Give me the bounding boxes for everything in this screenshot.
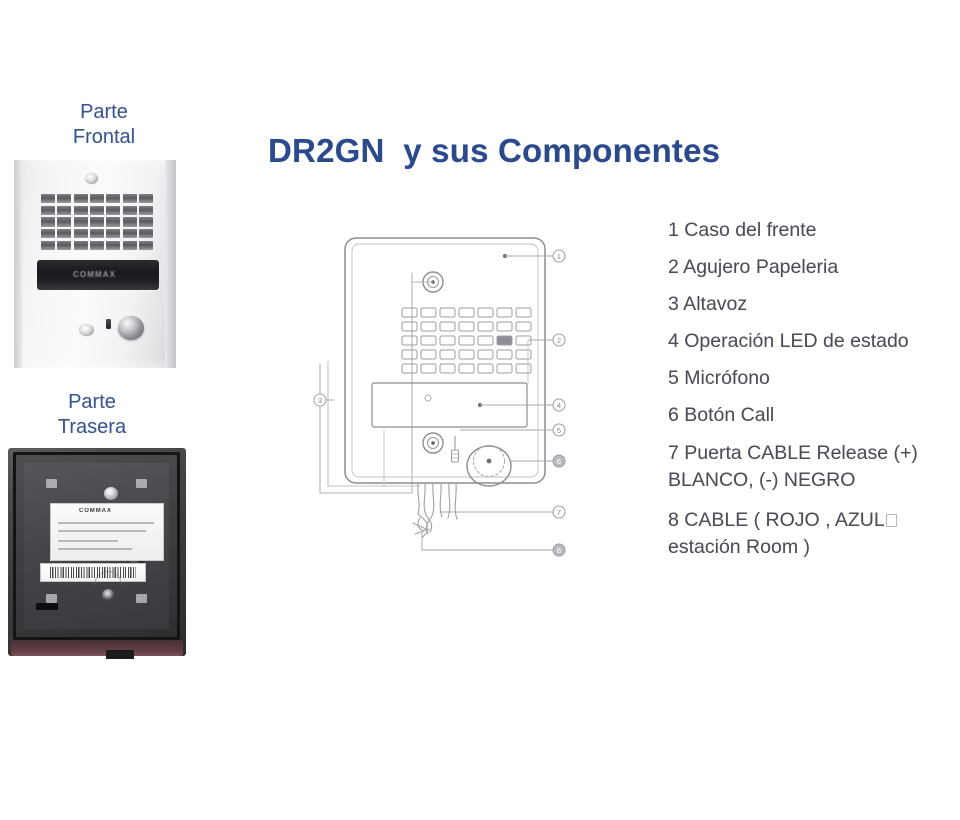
page-title: DR2GN y sus Componentes: [268, 132, 720, 170]
grille-slot: [74, 229, 88, 238]
front-brand-text: COMMAX: [73, 270, 116, 279]
diagram-led: [452, 436, 459, 462]
grille-slot: [123, 194, 137, 203]
rear-mount-tab: [46, 594, 57, 603]
grille-slot: [74, 241, 88, 250]
grille-slot: [106, 229, 120, 238]
diagram-microphone: [425, 395, 431, 401]
front-nameplate: COMMAX: [37, 260, 159, 290]
callout-num-4: 4: [557, 401, 561, 410]
rear-unit-photo: COMMAX: [8, 448, 186, 656]
front-speaker-grille: [41, 194, 153, 250]
rear-frame: COMMAX: [13, 452, 180, 640]
grille-slot: [41, 241, 55, 250]
grille-slot: [106, 206, 120, 215]
legend-item-8-text: 8 CABLE ( ROJO , AZUL: [668, 509, 885, 531]
grille-slot: [41, 229, 55, 238]
grille-slot: [90, 241, 104, 250]
grille-slot: [90, 229, 104, 238]
legend-item-5: 5 Micrófono: [668, 366, 958, 390]
rear-label-textline: [58, 522, 154, 524]
grille-slot: [123, 217, 137, 226]
unknown-glyph-icon: [886, 514, 897, 527]
front-status-led: [106, 319, 111, 329]
diagram-call-button: [467, 446, 511, 487]
diagram-callout-numbers: 1 2 3 4 5 6 7 8: [318, 252, 561, 555]
grille-slot: [74, 217, 88, 226]
rear-label-textline: [58, 548, 132, 550]
legend-item-8-cont: estación Room ): [668, 536, 810, 558]
rear-caption-line2: Trasera: [0, 415, 192, 440]
rear-spec-label: COMMAX: [50, 503, 164, 561]
grille-slot: [41, 217, 55, 226]
rear-bottom-tab: [106, 650, 134, 659]
rear-bottom-edge: [11, 640, 183, 656]
front-unit-photo: COMMAX: [14, 160, 176, 368]
callout-num-1: 1: [557, 252, 561, 261]
callout-num-7: 7: [557, 508, 561, 517]
grille-slot: [41, 194, 55, 203]
legend-item-8: 8 CABLE ( ROJO , AZULestación Room ): [668, 507, 958, 561]
front-left-edge: [14, 160, 23, 368]
front-call-button: [118, 316, 144, 340]
diagram-body-outline: [345, 238, 545, 483]
front-caption-line1: Parte: [4, 100, 204, 125]
grille-slot: [106, 217, 120, 226]
rear-label-textline: [58, 540, 118, 542]
rear-mount-tab: [136, 594, 147, 603]
grille-slot: [57, 217, 71, 226]
barcode-bars: [50, 567, 136, 578]
grille-slot: [90, 206, 104, 215]
grille-slot: [123, 206, 137, 215]
front-face: COMMAX: [23, 160, 165, 368]
rear-mount-hole-icon: [102, 589, 115, 601]
rear-label-brand: COMMAX: [79, 508, 112, 514]
front-top-screw-icon: [85, 173, 98, 184]
diagram-leader-lines: [320, 256, 552, 550]
front-bottom-screw-icon: [79, 324, 94, 336]
legend-item-6: 6 Botón Call: [668, 403, 958, 427]
grille-slot: [106, 194, 120, 203]
callout-num-5: 5: [557, 426, 561, 435]
rear-mount-hole-icon: [104, 487, 118, 500]
grille-slot: [57, 194, 71, 203]
callout-num-3: 3: [318, 396, 322, 405]
grille-slot: [57, 206, 71, 215]
grille-slot: [57, 241, 71, 250]
grille-slot: [123, 241, 137, 250]
legend-item-7: 7 Puerta CABLE Release (+) BLANCO, (-) N…: [668, 440, 958, 494]
page-canvas: DR2GN y sus Componentes Parte Frontal: [0, 0, 960, 820]
rear-mount-tab: [136, 479, 147, 488]
grille-slot: [74, 206, 88, 215]
grille-slot: [139, 241, 153, 250]
grille-slot: [139, 206, 153, 215]
callout-num-8: 8: [557, 546, 561, 555]
grille-slot: [123, 229, 137, 238]
grille-slot: [41, 206, 55, 215]
grille-slot: [74, 194, 88, 203]
legend-item-3: 3 Altavoz: [668, 292, 958, 316]
legend-item-2: 2 Agujero Papeleria: [668, 255, 958, 279]
grille-slot: [90, 217, 104, 226]
rear-photo-caption: Parte Trasera: [0, 390, 192, 440]
component-line-diagram: 1 2 3 4 5 6 7 8: [300, 218, 600, 568]
grille-slot: [139, 217, 153, 226]
rear-mount-tab: [46, 479, 57, 488]
diagram-exit-wires: [413, 483, 457, 538]
component-legend: 1 Caso del frente 2 Agujero Papeleria 3 …: [668, 218, 958, 574]
callout-num-6: 6: [557, 457, 561, 466]
callout-num-2: 2: [557, 336, 561, 345]
grille-slot: [139, 229, 153, 238]
front-caption-line2: Frontal: [4, 125, 204, 150]
diagram-grille: [402, 308, 531, 373]
front-right-edge: [165, 160, 176, 368]
legend-item-4: 4 Operación LED de estado: [668, 329, 958, 353]
rear-inner-plate: COMMAX: [24, 463, 169, 629]
rear-label-textline: [58, 530, 146, 532]
grille-slot: [57, 229, 71, 238]
legend-item-1: 1 Caso del frente: [668, 218, 958, 242]
grille-slot: [139, 194, 153, 203]
rear-barcode-label: [40, 563, 146, 582]
front-photo-caption: Parte Frontal: [4, 100, 204, 150]
grille-slot: [90, 194, 104, 203]
rear-cable-notch: [36, 603, 58, 610]
grille-slot: [106, 241, 120, 250]
rear-caption-line1: Parte: [0, 390, 192, 415]
